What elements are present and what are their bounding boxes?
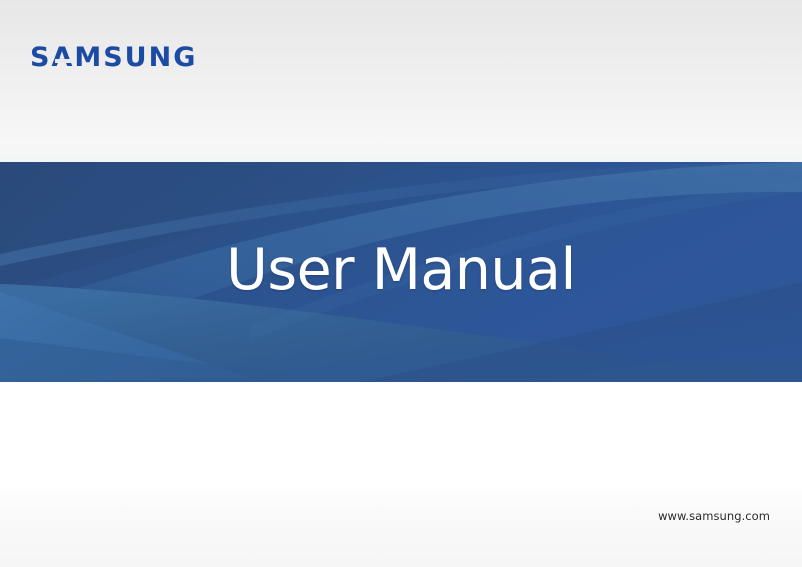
- cover-banner: User Manual: [0, 162, 802, 382]
- page-footer: www.samsung.com: [0, 490, 802, 567]
- cover-body-whitespace: [0, 382, 802, 490]
- page-title: User Manual: [0, 162, 802, 382]
- samsung-logo: SAMSUNG: [30, 42, 197, 72]
- page-header: SAMSUNG: [0, 0, 802, 162]
- samsung-logo-text: S: [30, 44, 51, 71]
- samsung-logo-text-tail: MSUNG: [74, 44, 197, 71]
- manual-cover-page: SAMSUNG: [0, 0, 802, 567]
- samsung-logo-glyph-a: A: [51, 44, 74, 71]
- website-url[interactable]: www.samsung.com: [658, 509, 770, 523]
